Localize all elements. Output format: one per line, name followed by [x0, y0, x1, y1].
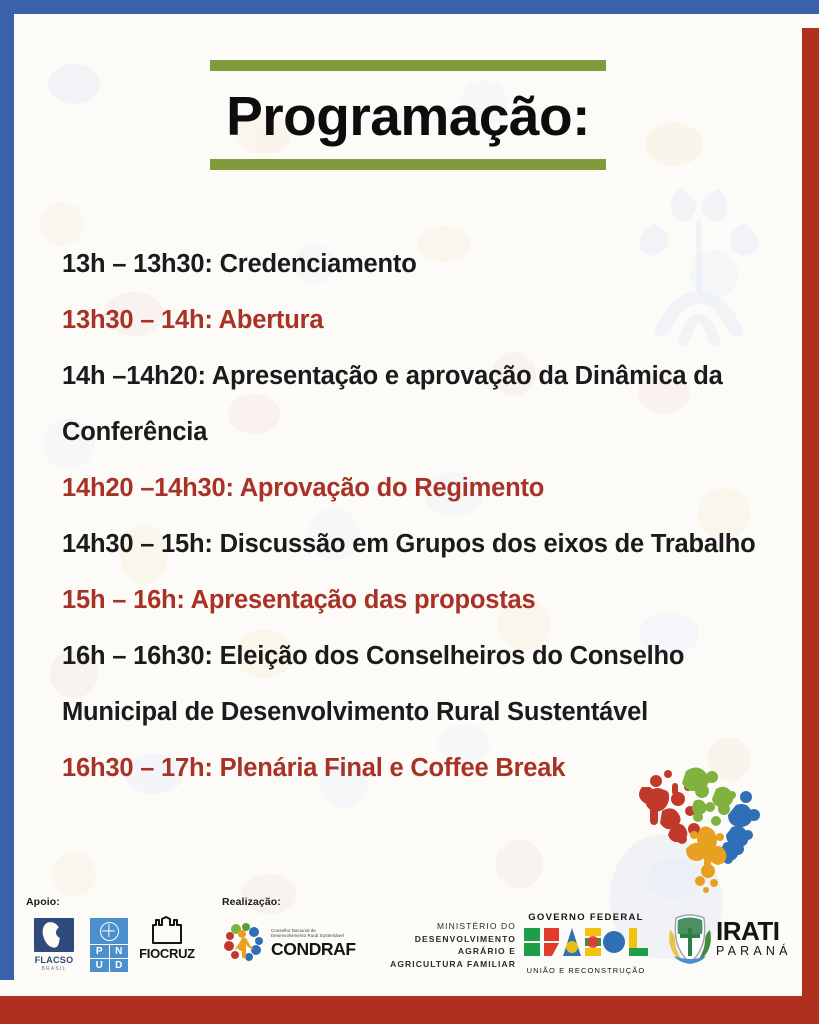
un-globe-icon	[90, 918, 128, 944]
fiocruz-wordmark: FIOCRUZ	[136, 946, 198, 961]
flacso-wordmark: FLACSO	[26, 955, 82, 965]
page-title: Programação:	[210, 77, 606, 155]
governo-slogan: UNIÃO E RECONSTRUÇÃO	[522, 966, 650, 975]
border-top-blue	[0, 0, 819, 14]
flacso-country-label: BRASIL	[26, 966, 82, 972]
irati-wordmark: IRATI	[716, 919, 792, 944]
schedule-item: 13h30 – 14h: Abertura	[62, 292, 762, 348]
condraf-subtitle-line2: Desenvolvimento Rural Sustentável	[271, 933, 356, 938]
poster: Programação: 13h – 13h30: Credenciamento…	[0, 0, 819, 1024]
schedule-item: 14h –14h20: Apresentação e aprovação da …	[62, 348, 752, 460]
pnud-letter: D	[110, 959, 129, 972]
schedule-item: 13h – 13h30: Credenciamento	[62, 236, 762, 292]
irati-state-label: PARANÁ	[716, 944, 792, 958]
realizacao-label: Realização:	[222, 896, 281, 908]
schedule-list: 13h – 13h30: Credenciamento 13h30 – 14h:…	[62, 236, 762, 796]
schedule-item: 16h – 16h30: Eleição dos Conselheiros do…	[62, 628, 752, 740]
irati-logo: IRATI PARANÁ	[666, 912, 794, 964]
ministerio-line-1: MINISTÉRIO DO	[376, 920, 516, 933]
border-bottom-red	[0, 996, 819, 1024]
border-left-blue	[0, 14, 14, 980]
footer-logos: Apoio: Realização: FLACSO BRASIL P N U D	[14, 886, 802, 996]
pnud-letter: N	[110, 945, 129, 958]
schedule-item: 14h30 – 15h: Discussão em Grupos dos eix…	[62, 516, 762, 572]
ministerio-line-2: DESENVOLVIMENTO	[376, 933, 516, 946]
ministerio-block: MINISTÉRIO DO DESENVOLVIMENTO AGRÁRIO E …	[376, 920, 516, 970]
condraf-logo: Conselho Nacional de Desenvolvimento Rur…	[222, 920, 362, 964]
title-block: Programação:	[210, 60, 606, 170]
governo-federal-label: GOVERNO FEDERAL	[522, 912, 650, 923]
pnud-letter-blocks: P N U D	[90, 945, 128, 972]
title-rule-bottom	[210, 159, 606, 170]
pnud-letter: P	[90, 945, 109, 958]
ministerio-line-4: AGRICULTURA FAMILIAR	[376, 958, 516, 971]
fiocruz-logo: FIOCRUZ	[136, 916, 198, 961]
schedule-item: 14h20 –14h30: Aprovação do Regimento	[62, 460, 762, 516]
flacso-logo: FLACSO BRASIL	[26, 918, 82, 972]
schedule-item: 15h – 16h: Apresentação das propostas	[62, 572, 762, 628]
title-rule-top	[210, 60, 606, 71]
condraf-tree-icon	[222, 920, 266, 964]
border-right-red	[802, 28, 819, 1024]
flacso-map-icon	[34, 918, 74, 952]
governo-federal-logo: GOVERNO FEDERAL	[522, 912, 650, 975]
brasil-wordmark-icon	[522, 925, 650, 959]
condraf-wordmark: CONDRAF	[271, 939, 356, 960]
brazil-map-illustration	[628, 759, 788, 894]
pnud-logo: P N U D	[90, 918, 130, 972]
ministerio-line-3: AGRÁRIO E	[376, 945, 516, 958]
apoio-label: Apoio:	[26, 896, 60, 908]
poster-page: Programação: 13h – 13h30: Credenciamento…	[14, 14, 802, 996]
irati-coat-of-arms-icon	[666, 912, 714, 964]
fiocruz-castle-icon	[150, 916, 184, 944]
pnud-letter: U	[90, 959, 109, 972]
